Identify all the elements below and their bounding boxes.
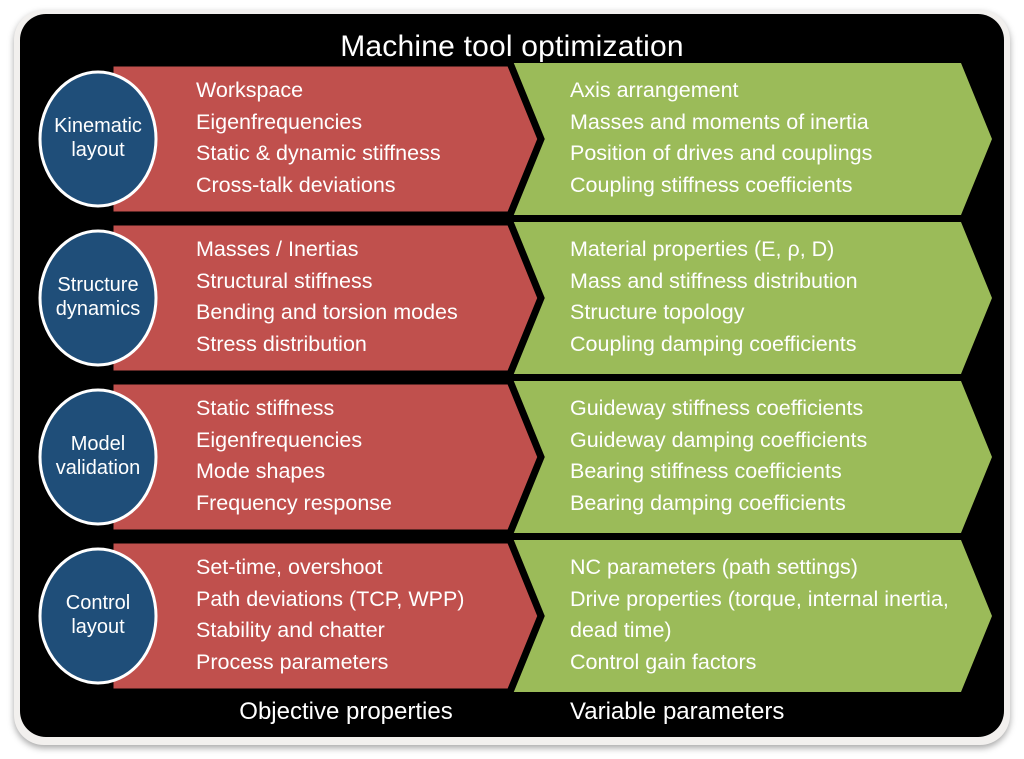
list-item: Structure topology	[570, 297, 970, 329]
variable-parameters-list: Material properties (E, ρ, D) Mass and s…	[570, 234, 970, 360]
stage-circle: Kinematic layout	[36, 69, 160, 209]
list-item: Structural stiffness	[196, 266, 496, 298]
list-item: Stability and chatter	[196, 615, 496, 647]
circle-graphic	[36, 69, 160, 209]
list-item: Eigenfrequencies	[196, 107, 496, 139]
list-item: Bending and torsion modes	[196, 297, 496, 329]
list-item: Static & dynamic stiffness	[196, 138, 496, 170]
list-item: Frequency response	[196, 488, 496, 520]
stage-circle: Structure dynamics	[36, 228, 160, 368]
circle-graphic	[36, 546, 160, 686]
list-item: Material properties (E, ρ, D)	[570, 234, 970, 266]
list-item: Stress distribution	[196, 329, 496, 361]
list-item: Axis arrangement	[570, 75, 970, 107]
list-item: Guideway damping coefficients	[570, 425, 970, 457]
list-item: Static stiffness	[196, 393, 496, 425]
list-item: Bearing damping coefficients	[570, 488, 970, 520]
list-item: Drive properties (torque, internal inert…	[570, 584, 970, 647]
list-item: Masses and moments of inertia	[570, 107, 970, 139]
diagram-panel: Machine tool optimization Kinematic layo…	[20, 14, 1004, 737]
list-item: Mass and stiffness distribution	[570, 266, 970, 298]
footer-label-variable: Variable parameters	[570, 698, 970, 726]
list-item: Masses / Inertias	[196, 234, 496, 266]
diagram-canvas: Machine tool optimization Kinematic layo…	[0, 0, 1024, 759]
list-item: Coupling damping coefficients	[570, 329, 970, 361]
objective-properties-list: Masses / Inertias Structural stiffness B…	[196, 234, 496, 360]
list-item: Process parameters	[196, 647, 496, 679]
list-item: Workspace	[196, 75, 496, 107]
list-item: Coupling stiffness coefficients	[570, 170, 970, 202]
objective-properties-list: Set-time, overshoot Path deviations (TCP…	[196, 552, 496, 678]
list-item: Guideway stiffness coefficients	[570, 393, 970, 425]
diagram-row: Kinematic layout Workspace Eigenfrequenc…	[20, 63, 1004, 215]
list-item: Path deviations (TCP, WPP)	[196, 584, 496, 616]
list-item: Cross-talk deviations	[196, 170, 496, 202]
diagram-row: Model validation Static stiffness Eigenf…	[20, 381, 1004, 533]
variable-parameters-list: Guideway stiffness coefficients Guideway…	[570, 393, 970, 519]
variable-parameters-list: NC parameters (path settings) Drive prop…	[570, 552, 970, 678]
list-item: Control gain factors	[570, 647, 970, 679]
objective-properties-list: Workspace Eigenfrequencies Static & dyna…	[196, 75, 496, 201]
footer-labels: Objective properties Variable parameters	[20, 698, 1004, 737]
list-item: Bearing stiffness coefficients	[570, 456, 970, 488]
list-item: Set-time, overshoot	[196, 552, 496, 584]
list-item: NC parameters (path settings)	[570, 552, 970, 584]
circle-graphic	[36, 387, 160, 527]
diagram-row: Structure dynamics Masses / Inertias Str…	[20, 222, 1004, 374]
circle-graphic	[36, 228, 160, 368]
page-title: Machine tool optimization	[20, 30, 1004, 64]
stage-circle: Model validation	[36, 387, 160, 527]
variable-parameters-list: Axis arrangement Masses and moments of i…	[570, 75, 970, 201]
diagram-row: Control layout Set-time, overshoot Path …	[20, 540, 1004, 692]
objective-properties-list: Static stiffness Eigenfrequencies Mode s…	[196, 393, 496, 519]
list-item: Eigenfrequencies	[196, 425, 496, 457]
list-item: Mode shapes	[196, 456, 496, 488]
stage-circle: Control layout	[36, 546, 160, 686]
list-item: Position of drives and couplings	[570, 138, 970, 170]
footer-label-objective: Objective properties	[196, 698, 496, 726]
